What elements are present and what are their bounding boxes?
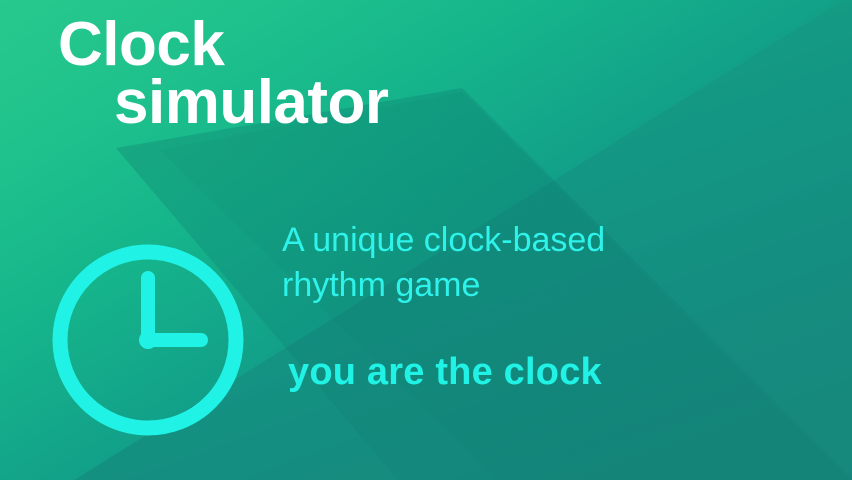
tagline-line-1: A unique clock-based (282, 218, 822, 263)
hook-text: you are the clock (288, 350, 822, 394)
clock-center-pin (139, 331, 157, 349)
clock-icon (46, 238, 250, 442)
app-title-line-1: Clock (56, 16, 576, 74)
app-title-line-2: simulator (56, 74, 576, 132)
copy-block: A unique clock-based rhythm game you are… (282, 218, 822, 394)
promo-banner: Clock simulator A unique clock-based rhy… (0, 0, 852, 480)
tagline: A unique clock-based rhythm game (282, 218, 822, 308)
tagline-line-2: rhythm game (282, 263, 822, 308)
app-title: Clock simulator (56, 16, 576, 132)
